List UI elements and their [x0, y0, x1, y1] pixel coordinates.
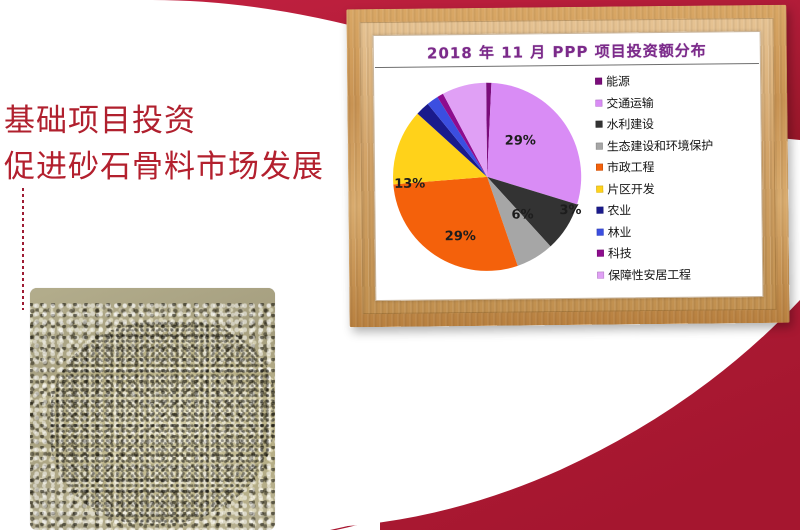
legend-label: 林业 [608, 223, 632, 240]
slide-canvas: 基础项目投资 促进砂石骨料市场发展 2018 年 11 月 PPP 项目投资额分… [0, 0, 800, 530]
picture-frame: 2018 年 11 月 PPP 项目投资额分布 29% 29% 13% 6% 3… [346, 5, 789, 328]
legend-swatch-icon [596, 164, 603, 171]
chart-title: 2018 年 11 月 PPP 项目投资额分布 [373, 39, 761, 64]
legend-swatch-icon [595, 78, 602, 85]
legend-item[interactable]: 农业 [596, 198, 756, 221]
dotted-divider [22, 188, 24, 310]
pie-label-water: 3% [559, 203, 581, 218]
legend-label: 水利建设 [606, 115, 653, 132]
chart-legend: 能源交通运输水利建设生态建设和环境保护市政工程片区开发农业林业科技保障性安居工程 [595, 69, 757, 286]
legend-label: 市政工程 [607, 158, 654, 175]
aggregate-photo [30, 288, 275, 530]
pie-label-district: 13% [394, 176, 425, 191]
legend-item[interactable]: 林业 [597, 220, 757, 243]
legend-item[interactable]: 能源 [595, 69, 755, 92]
legend-label: 保障性安居工程 [608, 265, 691, 283]
headline: 基础项目投资 促进砂石骨料市场发展 [4, 98, 344, 190]
legend-label: 科技 [608, 245, 632, 262]
legend-swatch-icon [595, 99, 602, 106]
legend-swatch-icon [596, 207, 603, 214]
legend-item[interactable]: 保障性安居工程 [597, 263, 757, 286]
legend-label: 交通运输 [606, 94, 653, 111]
legend-label: 能源 [606, 73, 630, 90]
legend-swatch-icon [596, 185, 603, 192]
pie-label-municipal: 29% [445, 229, 476, 244]
legend-item[interactable]: 生态建设和环境保护 [596, 134, 756, 157]
legend-item[interactable]: 片区开发 [596, 177, 756, 200]
legend-label: 片区开发 [607, 180, 654, 197]
chart-plot-area: 29% 29% 13% 6% 3% 能源交通运输水利建设生态建设和环境保护市政工… [373, 65, 763, 301]
headline-line-1: 基础项目投资 [4, 98, 344, 144]
legend-swatch-icon [597, 250, 604, 257]
legend-swatch-icon [596, 142, 603, 149]
pie-label-ecology: 6% [511, 207, 533, 222]
legend-swatch-icon [597, 228, 604, 235]
legend-item[interactable]: 科技 [597, 241, 757, 264]
legend-label: 农业 [607, 202, 631, 219]
legend-swatch-icon [597, 271, 604, 278]
legend-item[interactable]: 市政工程 [596, 155, 756, 178]
legend-item[interactable]: 水利建设 [595, 112, 755, 135]
legend-item[interactable]: 交通运输 [595, 91, 755, 114]
pie-label-transport: 29% [505, 133, 536, 148]
legend-label: 生态建设和环境保护 [607, 136, 713, 154]
legend-swatch-icon [596, 121, 603, 128]
headline-line-2: 促进砂石骨料市场发展 [4, 144, 344, 190]
chart-panel: 2018 年 11 月 PPP 项目投资额分布 29% 29% 13% 6% 3… [373, 31, 764, 301]
